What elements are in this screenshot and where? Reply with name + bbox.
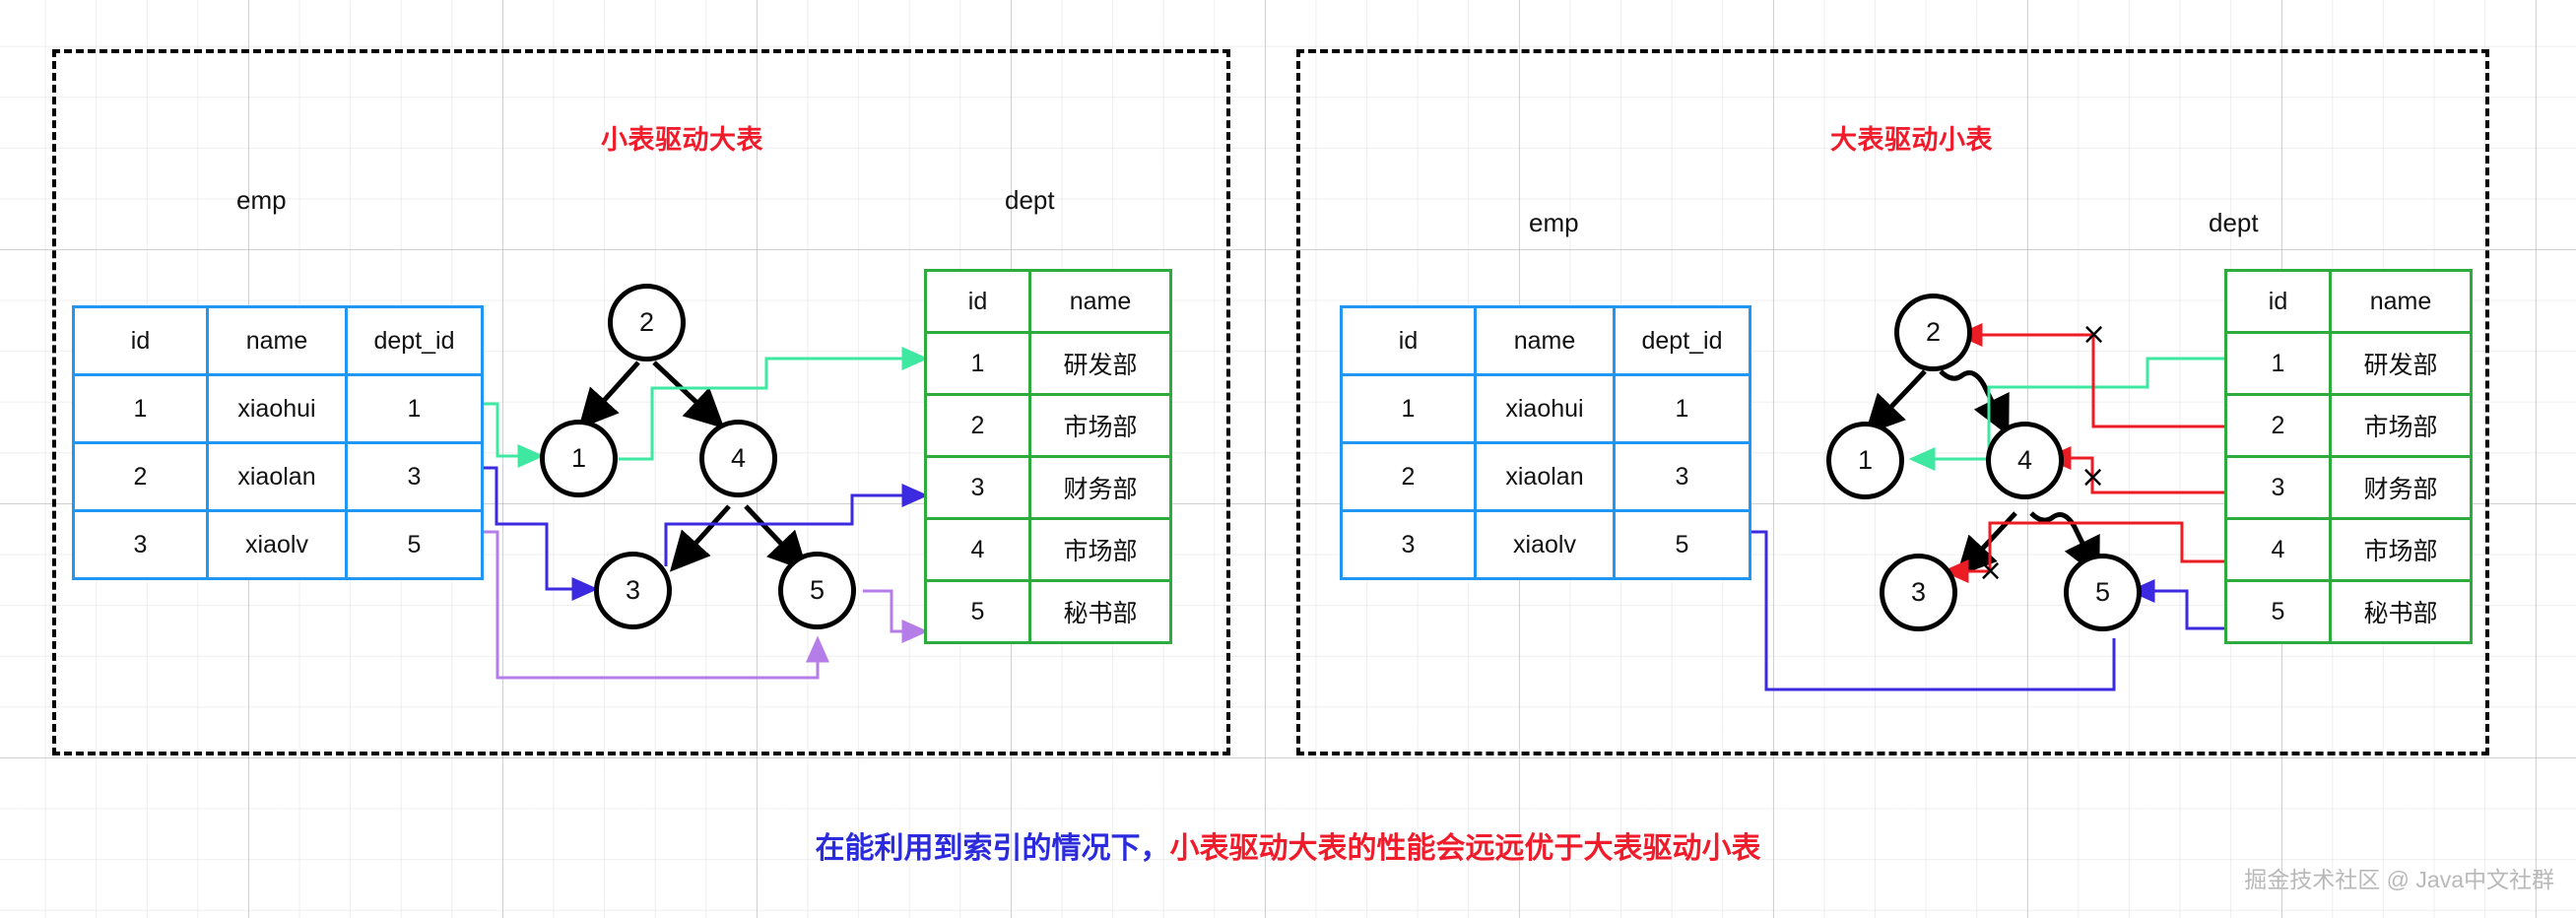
caption: 在能利用到索引的情况下，小表驱动大表的性能会远远优于大表驱动小表 bbox=[0, 823, 2576, 867]
table-header-row: id name dept_id bbox=[74, 307, 483, 375]
cell-name: xiaolan bbox=[208, 443, 347, 511]
cell-id: 1 bbox=[74, 375, 208, 443]
right-emp-label: emp bbox=[1529, 208, 1579, 238]
cell-name: xiaolv bbox=[208, 511, 347, 579]
cell-id: 4 bbox=[2226, 519, 2331, 581]
table-header-row: id name dept_id bbox=[1342, 307, 1750, 375]
col-header-deptid: dept_id bbox=[1615, 307, 1750, 375]
right-panel-title: 大表驱动小表 bbox=[1830, 118, 1993, 157]
caption-blue-part: 在能利用到索引的情况下， bbox=[816, 832, 1170, 865]
table-row: 4 市场部 bbox=[926, 519, 1171, 581]
col-header-id: id bbox=[1342, 307, 1476, 375]
cell-id: 2 bbox=[74, 443, 208, 511]
col-header-id: id bbox=[926, 271, 1030, 333]
cell-name: xiaohui bbox=[208, 375, 347, 443]
cell-id: 5 bbox=[2226, 581, 2331, 643]
table-header-row: id name bbox=[926, 271, 1171, 333]
caption-red-part: 小表驱动大表的性能会远远优于大表驱动小表 bbox=[1170, 832, 1761, 865]
cell-deptid: 5 bbox=[1615, 511, 1750, 579]
cell-name: 市场部 bbox=[2331, 519, 2472, 581]
cell-deptid: 1 bbox=[347, 375, 483, 443]
right-dept-table: id name 1 研发部 2 市场部 3 财务部 4 市场部 5 秘书部 bbox=[2224, 269, 2473, 644]
right-tree-node-1: 1 bbox=[1826, 422, 1904, 499]
watermark: 掘金技术社区 @ Java中文社群 bbox=[2244, 861, 2554, 894]
cell-name: 秘书部 bbox=[1030, 581, 1171, 643]
table-row: 1 研发部 bbox=[2226, 333, 2472, 395]
right-tree-node-3: 3 bbox=[1880, 554, 1957, 631]
table-row: 4 市场部 bbox=[2226, 519, 2472, 581]
cell-id: 3 bbox=[74, 511, 208, 579]
cell-deptid: 5 bbox=[347, 511, 483, 579]
left-tree-node-3: 3 bbox=[594, 552, 672, 629]
cell-id: 1 bbox=[926, 333, 1030, 395]
cell-name: 秘书部 bbox=[2331, 581, 2472, 643]
miss-x-icon-node3: × bbox=[1978, 557, 2003, 586]
cell-name: 财务部 bbox=[1030, 457, 1171, 519]
table-row: 3 xiaolv 5 bbox=[1342, 511, 1750, 579]
left-tree-node-1: 1 bbox=[540, 420, 618, 497]
cell-name: xiaolan bbox=[1476, 443, 1615, 511]
table-row: 5 秘书部 bbox=[2226, 581, 2472, 643]
cell-deptid: 1 bbox=[1615, 375, 1750, 443]
cell-id: 2 bbox=[1342, 443, 1476, 511]
left-tree-node-4: 4 bbox=[699, 420, 777, 497]
cell-name: 市场部 bbox=[2331, 395, 2472, 457]
cell-name: 市场部 bbox=[1030, 519, 1171, 581]
cell-name: 市场部 bbox=[1030, 395, 1171, 457]
table-row: 1 xiaohui 1 bbox=[74, 375, 483, 443]
left-emp-table: id name dept_id 1 xiaohui 1 2 xiaolan 3 … bbox=[72, 305, 484, 580]
cell-name: 财务部 bbox=[2331, 457, 2472, 519]
left-tree-node-2: 2 bbox=[608, 284, 686, 361]
miss-x-icon-node2: × bbox=[2081, 320, 2106, 350]
table-row: 5 秘书部 bbox=[926, 581, 1171, 643]
col-header-name: name bbox=[1030, 271, 1171, 333]
cell-id: 3 bbox=[2226, 457, 2331, 519]
col-header-id: id bbox=[74, 307, 208, 375]
cell-deptid: 3 bbox=[347, 443, 483, 511]
col-header-deptid: dept_id bbox=[347, 307, 483, 375]
cell-id: 4 bbox=[926, 519, 1030, 581]
col-header-name: name bbox=[1476, 307, 1615, 375]
right-emp-table: id name dept_id 1 xiaohui 1 2 xiaolan 3 … bbox=[1340, 305, 1751, 580]
table-row: 2 xiaolan 3 bbox=[1342, 443, 1750, 511]
table-row: 3 财务部 bbox=[2226, 457, 2472, 519]
cell-id: 1 bbox=[1342, 375, 1476, 443]
col-header-name: name bbox=[2331, 271, 2472, 333]
cell-name: xiaohui bbox=[1476, 375, 1615, 443]
cell-id: 3 bbox=[926, 457, 1030, 519]
cell-id: 2 bbox=[926, 395, 1030, 457]
col-header-name: name bbox=[208, 307, 347, 375]
miss-x-icon-node4: × bbox=[2081, 463, 2105, 492]
table-row: 1 研发部 bbox=[926, 333, 1171, 395]
cell-deptid: 3 bbox=[1615, 443, 1750, 511]
cell-id: 2 bbox=[2226, 395, 2331, 457]
table-row: 2 xiaolan 3 bbox=[74, 443, 483, 511]
cell-name: 研发部 bbox=[1030, 333, 1171, 395]
right-tree-node-4: 4 bbox=[1986, 422, 2064, 499]
right-tree-node-2: 2 bbox=[1894, 294, 1972, 371]
left-tree-node-5: 5 bbox=[778, 552, 856, 629]
left-panel-title: 小表驱动大表 bbox=[601, 118, 763, 157]
cell-name: 研发部 bbox=[2331, 333, 2472, 395]
table-row: 2 市场部 bbox=[2226, 395, 2472, 457]
table-row: 3 xiaolv 5 bbox=[74, 511, 483, 579]
table-row: 1 xiaohui 1 bbox=[1342, 375, 1750, 443]
right-dept-label: dept bbox=[2209, 208, 2259, 238]
left-emp-label: emp bbox=[236, 185, 287, 216]
col-header-id: id bbox=[2226, 271, 2331, 333]
cell-id: 3 bbox=[1342, 511, 1476, 579]
table-header-row: id name bbox=[2226, 271, 2472, 333]
right-tree-node-5: 5 bbox=[2064, 554, 2142, 631]
table-row: 2 市场部 bbox=[926, 395, 1171, 457]
left-dept-table: id name 1 研发部 2 市场部 3 财务部 4 市场部 5 秘书部 bbox=[924, 269, 1172, 644]
cell-id: 1 bbox=[2226, 333, 2331, 395]
cell-id: 5 bbox=[926, 581, 1030, 643]
table-row: 3 财务部 bbox=[926, 457, 1171, 519]
cell-name: xiaolv bbox=[1476, 511, 1615, 579]
left-dept-label: dept bbox=[1005, 185, 1055, 216]
